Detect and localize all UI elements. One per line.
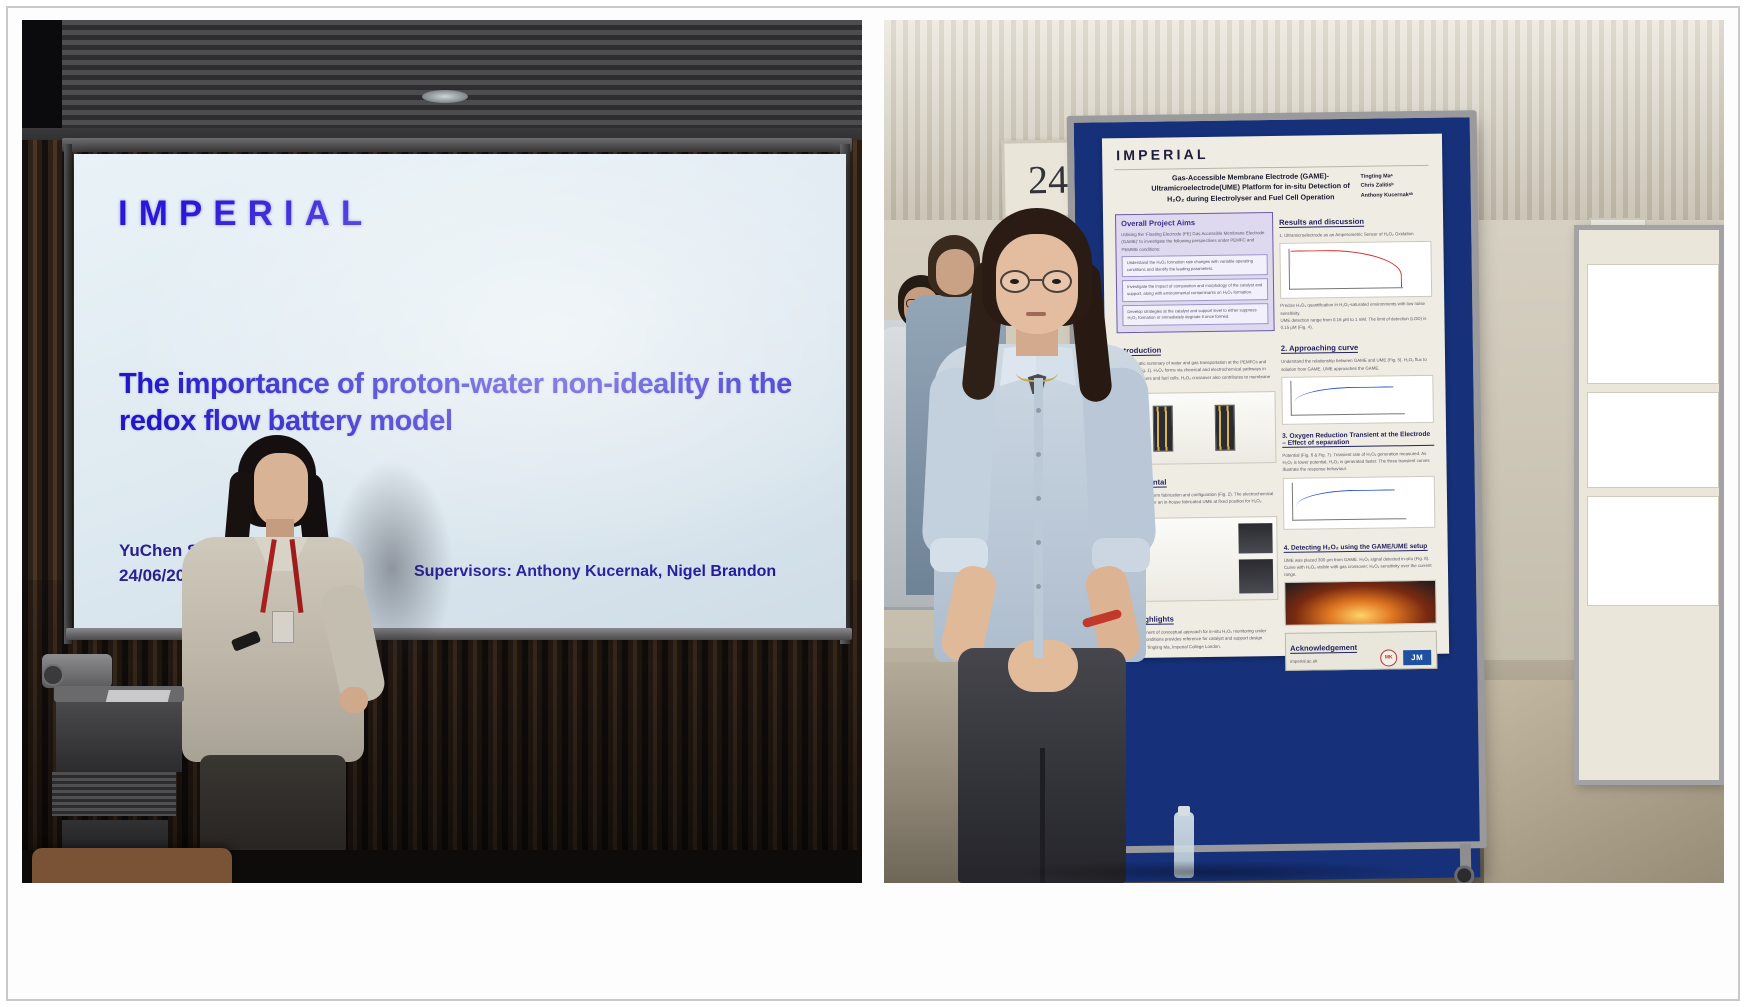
cart-body — [56, 702, 182, 772]
floor-shadow — [1004, 860, 1424, 883]
presenter-clasped-hands — [1008, 640, 1078, 692]
poster-section-results-heading: Results and discussion — [1279, 217, 1364, 228]
presenter-mouth — [1026, 312, 1046, 316]
poster-authors: Tingting Maᵃ Chris Zalitisᵇ Anthony Kuce… — [1360, 172, 1436, 201]
poster-section-acknowledgement: Acknowledgement imperial.ac.uk MK JM — [1285, 631, 1438, 670]
slide-supervisors: Supervisors: Anthony Kucernak, Nigel Bra… — [414, 563, 776, 581]
ceiling-downlight-icon — [422, 90, 468, 103]
approach-chart-series — [1294, 386, 1393, 411]
poster-section-detecting-body: UME was placed 300 μm from GAME. H₂O₂ si… — [1284, 554, 1436, 578]
setup-photo-thumb-1 — [1238, 523, 1272, 553]
poster-section-results: Results and discussion 1. Ultramicroelec… — [1279, 210, 1433, 331]
jm-logo-icon: JM — [1403, 650, 1431, 665]
poster-section-orr-transient: 3. Oxygen Reduction Transient at the Ele… — [1282, 430, 1435, 530]
board-wheel-right[interactable] — [1454, 865, 1474, 883]
screenshot-canvas: IMPERIAL The importance of proton-water … — [0, 0, 1746, 1007]
poster-section-detecting: 4. Detecting H₂O₂ using the GAME/UME set… — [1284, 534, 1437, 626]
presenter-button-2 — [1036, 452, 1041, 457]
presenter-button-1 — [1036, 408, 1041, 413]
poster-title: Gas-Accessible Membrane Electrode (GAME)… — [1150, 171, 1350, 205]
poster-section-detecting-heading: 4. Detecting H₂O₂ using the GAME/UME set… — [1284, 543, 1428, 553]
poster-section-orr-body: Potential (Fig. 6 & Fig. 7). Transient r… — [1282, 450, 1434, 474]
poster-section-approaching-curve: 2. Approaching curve Understand the rela… — [1281, 336, 1434, 425]
speaker-badge — [272, 611, 294, 643]
slide-title: The importance of proton-water non-ideal… — [119, 366, 809, 440]
presenter-button-3 — [1036, 496, 1041, 501]
approach-chart-x-axis — [1291, 413, 1405, 416]
transient-chart-x-axis — [1292, 518, 1406, 521]
left-photo-presentation: IMPERIAL The importance of proton-water … — [22, 20, 862, 883]
cart-speaker-grill — [52, 772, 176, 816]
adjacent-poster-block-1 — [1587, 264, 1719, 384]
poster-author-3: Anthony Kucernakᵃᵇ — [1361, 191, 1437, 202]
poster-acknowledgement-heading: Acknowledgement — [1290, 643, 1357, 654]
chart-series-red — [1291, 250, 1403, 289]
presenter-shirt-placket — [1034, 378, 1043, 658]
right-photo-poster-session: 26 24 IMPERIAL Gas-Accessible Membrane E… — [884, 20, 1724, 883]
poster-figure-ume-photo — [1284, 580, 1437, 626]
screen-frame-left — [64, 144, 72, 644]
poster-chart-approach — [1281, 375, 1434, 425]
poster-chart-calibration — [1279, 241, 1432, 299]
poster-section-approaching-body: Understand the relationship between GAME… — [1281, 356, 1433, 373]
transient-chart-series — [1296, 489, 1395, 516]
speaker-hand-right — [340, 687, 368, 713]
poster-results-bullet-2: UME detection range from 0.16 μM to 1 mM… — [1280, 315, 1432, 332]
presenter-button-5 — [1036, 584, 1041, 589]
poster-chart-transients — [1283, 475, 1436, 529]
adjacent-poster-block-3 — [1587, 496, 1719, 606]
projector-lens-icon — [42, 664, 64, 686]
presenter-button-4 — [1036, 540, 1041, 545]
setup-photo-thumb-2 — [1239, 559, 1273, 593]
presenter-glasses-bridge-icon — [1030, 279, 1042, 281]
wooden-chair-back — [32, 848, 232, 883]
slide-title-line1: The importance of proton-water non-ideal… — [119, 366, 809, 403]
approach-chart-y-axis — [1290, 381, 1291, 416]
poster-section-results-body: 1. Ultramicroelectrode as an Amperometri… — [1279, 230, 1431, 239]
transient-chart-y-axis — [1292, 482, 1294, 520]
adjacent-poster-title — [1587, 238, 1719, 248]
poster-imperial-logo: IMPERIAL — [1116, 146, 1209, 163]
slide-imperial-logo: IMPERIAL — [118, 194, 373, 234]
adjacent-poster-block-2 — [1587, 392, 1719, 488]
poster-presenter-figure — [896, 208, 1196, 883]
poster-section-orr-heading: 3. Oxygen Reduction Transient at the Ele… — [1282, 431, 1434, 448]
speaker-face — [254, 453, 308, 527]
poster-right-column: Results and discussion 1. Ultramicroelec… — [1279, 210, 1437, 671]
fuel-cell-stack-icon-b — [1215, 405, 1236, 451]
poster-section-approaching-heading: 2. Approaching curve — [1281, 343, 1359, 354]
poster-header-rule — [1114, 165, 1428, 170]
projector-screen-casing — [62, 138, 852, 152]
mk-logo-icon: MK — [1380, 649, 1397, 666]
projector-body — [42, 654, 112, 688]
presenter-eye-right — [1052, 279, 1061, 284]
ceiling-slats — [22, 20, 862, 128]
adjacent-poster-board — [1574, 225, 1724, 785]
water-bottle-cap — [1178, 806, 1190, 816]
poster-title-line3: H₂O₂ during Electrolyser and Fuel Cell O… — [1151, 192, 1351, 205]
presenter-eye-left — [1010, 279, 1019, 284]
